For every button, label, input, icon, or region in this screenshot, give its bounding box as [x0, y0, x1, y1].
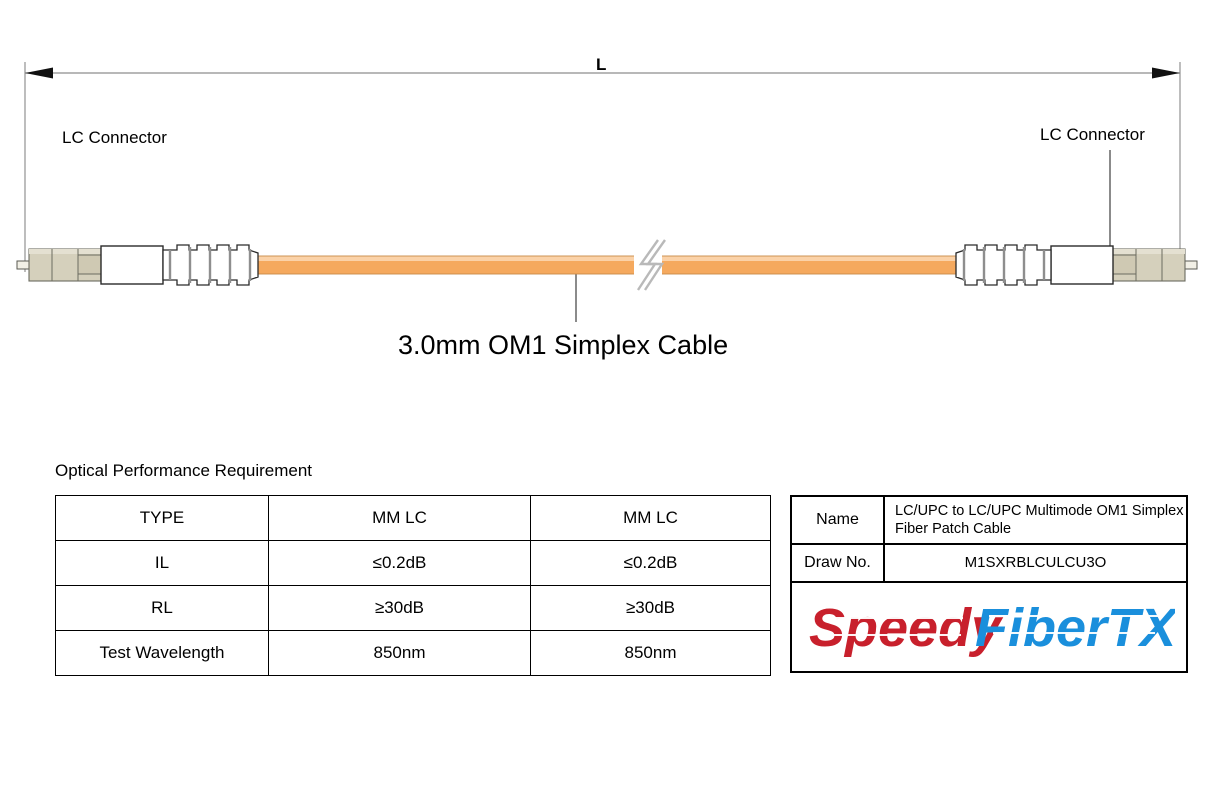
performance-table-title: Optical Performance Requirement [55, 461, 312, 481]
logo-text-fibertx: FiberTX [975, 598, 1175, 658]
cell-wavelength-b: 850nm [531, 631, 771, 676]
right-lc-connector [956, 245, 1197, 285]
title-block: Name LC/UPC to LC/UPC Multimode OM1 Simp… [790, 495, 1188, 673]
draw-number-value: M1SXRBLCULCU3O [885, 545, 1186, 581]
cell-type-label: TYPE [56, 496, 269, 541]
cable-break-symbol [634, 240, 665, 290]
left-connector-label: LC Connector [62, 128, 167, 148]
cell-type-b: MM LC [531, 496, 771, 541]
cell-type-a: MM LC [269, 496, 531, 541]
name-value: LC/UPC to LC/UPC Multimode OM1 Simplex F… [885, 497, 1186, 543]
cell-il-b: ≤0.2dB [531, 541, 771, 586]
speedyfibertx-logo-icon: Speedy FiberTX [803, 588, 1175, 666]
cable-jacket [258, 256, 958, 274]
dimension-arrow-left [25, 68, 53, 79]
table-row: IL ≤0.2dB ≤0.2dB [56, 541, 771, 586]
cable-type-label: 3.0mm OM1 Simplex Cable [398, 330, 728, 361]
draw-number-key: Draw No. [792, 545, 885, 581]
left-lc-connector [17, 245, 258, 285]
table-row: TYPE MM LC MM LC [56, 496, 771, 541]
title-block-name-row: Name LC/UPC to LC/UPC Multimode OM1 Simp… [792, 497, 1186, 545]
cell-wavelength-label: Test Wavelength [56, 631, 269, 676]
cell-rl-a: ≥30dB [269, 586, 531, 631]
dimension-label: L [596, 55, 607, 75]
table-row: RL ≥30dB ≥30dB [56, 586, 771, 631]
drawing-sheet: L LC Connector LC Connector 3.0mm OM1 Si… [0, 0, 1214, 793]
cell-il-label: IL [56, 541, 269, 586]
cell-il-a: ≤0.2dB [269, 541, 531, 586]
title-block-draw-row: Draw No. M1SXRBLCULCU3O [792, 545, 1186, 583]
right-connector-label: LC Connector [1040, 125, 1145, 145]
table-row: Test Wavelength 850nm 850nm [56, 631, 771, 676]
cell-rl-b: ≥30dB [531, 586, 771, 631]
optical-performance-table: TYPE MM LC MM LC IL ≤0.2dB ≤0.2dB RL ≥30… [55, 495, 771, 676]
dimension-arrow-right [1152, 68, 1180, 79]
cell-rl-label: RL [56, 586, 269, 631]
cell-wavelength-a: 850nm [269, 631, 531, 676]
brand-logo: Speedy FiberTX [792, 583, 1186, 671]
name-key: Name [792, 497, 885, 543]
title-block-logo-row: Speedy FiberTX [792, 583, 1186, 671]
